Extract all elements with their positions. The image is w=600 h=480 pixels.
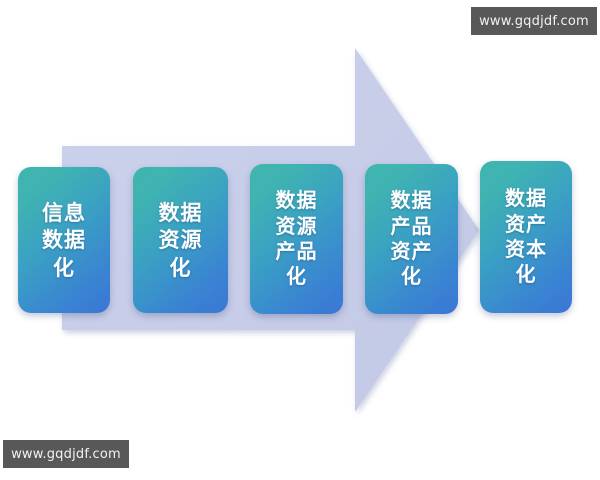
process-step-card-5[interactable]: 数据 资产 资本 化: [480, 161, 572, 313]
watermark-bottom-left-text: www.gqdjdf.com: [11, 447, 121, 462]
process-step-label-3: 数据 资源 产品 化: [272, 188, 322, 290]
process-step-card-3[interactable]: 数据 资源 产品 化: [250, 164, 343, 314]
watermark-top-right: www.gqdjdf.com: [471, 7, 597, 35]
process-step-card-4[interactable]: 数据 产品 资产 化: [365, 164, 458, 314]
process-step-label-1: 信息 数据 化: [38, 199, 90, 281]
diagram-canvas: 信息 数据 化 数据 资源 化 数据 资源 产品 化 数据 产品 资产 化 数据…: [0, 0, 600, 480]
process-step-card-2[interactable]: 数据 资源 化: [133, 167, 228, 313]
process-step-label-5: 数据 资产 资本 化: [501, 186, 551, 288]
process-step-label-4: 数据 产品 资产 化: [387, 188, 437, 290]
process-step-label-2: 数据 资源 化: [155, 199, 207, 281]
watermark-top-right-text: www.gqdjdf.com: [479, 14, 589, 29]
process-step-card-1[interactable]: 信息 数据 化: [18, 167, 110, 313]
watermark-bottom-left: www.gqdjdf.com: [3, 440, 129, 468]
